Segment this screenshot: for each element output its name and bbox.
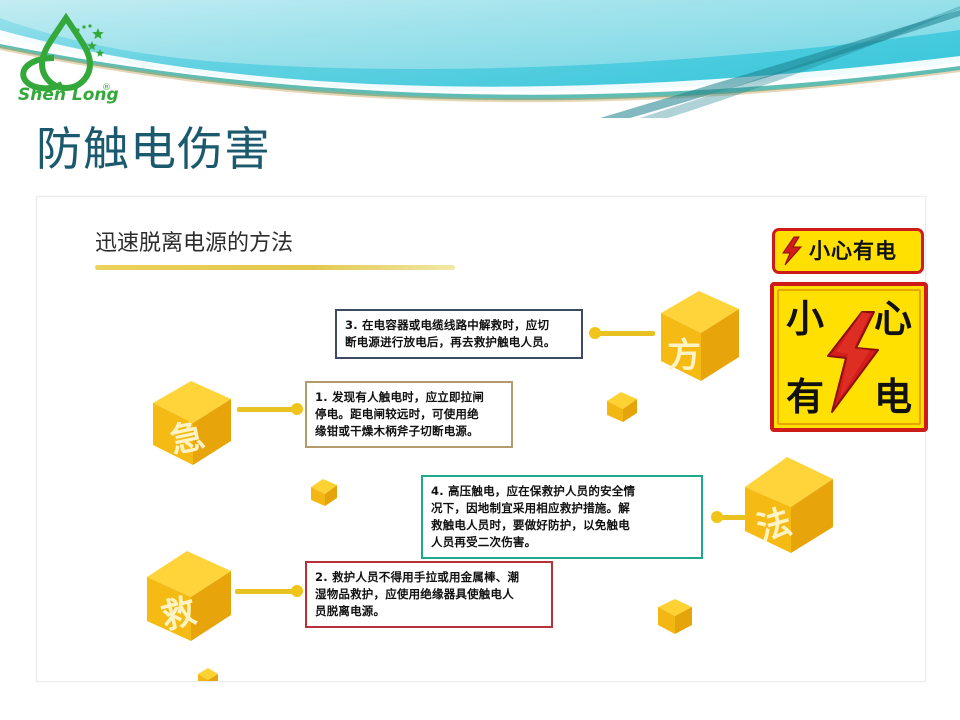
connector-line-1 (237, 407, 297, 412)
mini-cube-c (653, 593, 697, 639)
warning-char-xiao: 小 (786, 300, 824, 338)
step-4-line-3: 救触电人员时，要做好防护，以免触电 (431, 517, 693, 534)
connector-line-3 (593, 331, 655, 336)
mini-cube-a (307, 475, 341, 509)
connector-line-2 (235, 589, 297, 594)
mini-cube-b (602, 387, 642, 427)
step-3-line-1: 3. 在电容器或电缆线路中解救时，应切 (345, 317, 573, 334)
connector-dot-4 (711, 511, 723, 523)
lightning-bolt-icon (781, 236, 805, 266)
section-rule (95, 265, 455, 270)
warning-sign-small: 小心有电 (772, 228, 924, 274)
step-box-2: 2. 救护人员不得用手拉或用金属棒、潮 湿物品救护，应使用绝缘器具使触电人 员脱… (305, 561, 553, 628)
step-box-1: 1. 发现有人触电时，应立即拉闸 停电。距电闸较远时，可使用绝 缘钳或干燥木柄斧… (305, 381, 513, 448)
step-box-4: 4. 高压触电，应在保救护人员的安全情 况下，因地制宜采用相应救护措施。解 救触… (421, 475, 703, 559)
cube-fa: 法 (735, 449, 831, 545)
cube-fang-glyph: 方 (667, 336, 701, 376)
step-3-line-2: 断电源进行放电后，再去救护触电人员。 (345, 334, 573, 351)
warning-sign-large: 小 心 有 电 (770, 282, 928, 432)
connector-dot-3 (589, 327, 601, 339)
page-title: 防触电伤害 (36, 126, 271, 172)
connector-dot-2 (291, 585, 303, 597)
step-2-line-1: 2. 救护人员不得用手拉或用金属棒、潮 (315, 569, 543, 586)
cube-jiu: 救 (137, 543, 233, 639)
warning-char-you: 有 (786, 378, 824, 416)
step-1-line-2: 停电。距电闸较远时，可使用绝 (315, 406, 503, 423)
step-4-line-1: 4. 高压触电，应在保救护人员的安全情 (431, 483, 693, 500)
section-heading: 迅速脱离电源的方法 (95, 225, 293, 257)
mini-cube-d (195, 665, 221, 682)
cube-fang: 方 (649, 285, 745, 381)
logo-registered-mark: ® (102, 83, 111, 93)
step-1-line-1: 1. 发现有人触电时，应立即拉闸 (315, 389, 503, 406)
step-1-line-3: 缘钳或干燥木柄斧子切断电源。 (315, 423, 503, 440)
step-box-3: 3. 在电容器或电缆线路中解救时，应切 断电源进行放电后，再去救护触电人员。 (335, 309, 583, 359)
cube-ji: 急 (141, 373, 237, 469)
warning-sign-small-text: 小心有电 (809, 241, 897, 262)
shen-long-logo: Shen Long ® (14, 12, 118, 104)
step-4-line-4: 人员再受二次伤害。 (431, 534, 693, 551)
step-2-line-3: 员脱离电源。 (315, 603, 543, 620)
top-banner (0, 0, 960, 118)
step-2-line-2: 湿物品救护，应使用绝缘器具使触电人 (315, 586, 543, 603)
slide-root: Shen Long ® 防触电伤害 迅速脱离电源的方法 (0, 0, 960, 720)
connector-dot-1 (291, 403, 303, 415)
lightning-bolt-large-icon (822, 310, 884, 414)
step-4-line-2: 况下，因地制宜采用相应救护措施。解 (431, 500, 693, 517)
